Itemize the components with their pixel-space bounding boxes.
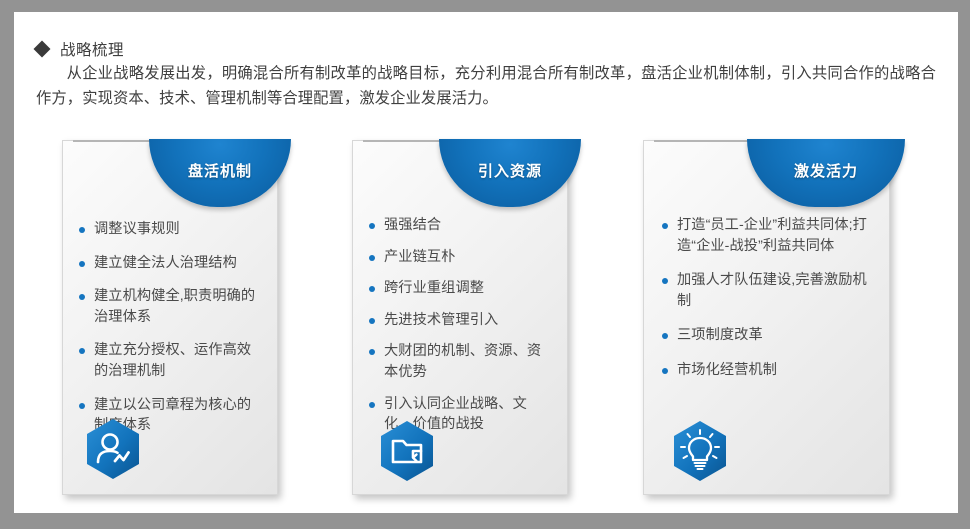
- bullet-dot-icon: [369, 318, 375, 324]
- list-item-label: 强强结合: [384, 215, 441, 236]
- list-item-label: 三项制度改革: [677, 325, 763, 346]
- list-item-label: 产业链互朴: [384, 247, 455, 268]
- list-item-label: 建立健全法人治理结构: [94, 253, 237, 274]
- list-item-label: 调整议事规则: [94, 219, 180, 240]
- list-item: 建立机构健全,职责明确的治理体系: [79, 286, 265, 327]
- list-item-label: 大财团的机制、资源、资本优势: [384, 341, 555, 382]
- list-item: 跨行业重组调整: [369, 278, 555, 299]
- list-item: 三项制度改革: [662, 325, 879, 346]
- card-stimulate-vitality[interactable]: 激发活力 打造“员工-企业”利益共同体;打造“企业-战投”利益共同体 加强人才队…: [643, 140, 890, 495]
- list-item: 先进技术管理引入: [369, 310, 555, 331]
- bullet-dot-icon: [79, 261, 85, 267]
- bullet-dot-icon: [79, 403, 85, 409]
- bullet-list: 调整议事规则 建立健全法人治理结构 建立机构健全,职责明确的治理体系 建立充分授…: [79, 219, 265, 449]
- card-group: 盘活机制 调整议事规则 建立健全法人治理结构 建立机构健全,职责明确的治理体系: [14, 12, 958, 513]
- list-item: 建立健全法人治理结构: [79, 253, 265, 274]
- list-item: 产业链互朴: [369, 247, 555, 268]
- list-item-label: 建立机构健全,职责明确的治理体系: [94, 286, 265, 327]
- bullet-dot-icon: [79, 294, 85, 300]
- card-introduce-resources[interactable]: 引入资源 强强结合 产业链互朴 跨行业重组调整 先进技术管理引入: [352, 140, 568, 495]
- card-title: 盘活机制: [188, 160, 252, 181]
- list-item-label: 加强人才队伍建设,完善激励机制: [677, 270, 879, 311]
- lightbulb-icon: [672, 420, 728, 482]
- bullet-dot-icon: [662, 278, 668, 284]
- card-revitalize-mechanism[interactable]: 盘活机制 调整议事规则 建立健全法人治理结构 建立机构健全,职责明确的治理体系: [62, 140, 278, 495]
- bullet-dot-icon: [369, 255, 375, 261]
- card-title: 激发活力: [794, 160, 858, 181]
- list-item: 打造“员工-企业”利益共同体;打造“企业-战投”利益共同体: [662, 215, 879, 256]
- list-item: 强强结合: [369, 215, 555, 236]
- list-item: 调整议事规则: [79, 219, 265, 240]
- bullet-dot-icon: [79, 348, 85, 354]
- card-title-banner: 引入资源: [439, 139, 581, 207]
- list-item: 大财团的机制、资源、资本优势: [369, 341, 555, 382]
- list-item-label: 市场化经营机制: [677, 360, 777, 381]
- bullet-dot-icon: [369, 223, 375, 229]
- bullet-dot-icon: [662, 368, 668, 374]
- card-title-banner: 激发活力: [747, 139, 905, 207]
- list-item-label: 建立充分授权、运作高效的治理机制: [94, 340, 265, 381]
- bullet-dot-icon: [369, 402, 375, 408]
- person-pulse-icon: [85, 418, 141, 480]
- card-title-banner: 盘活机制: [149, 139, 291, 207]
- bullet-list: 打造“员工-企业”利益共同体;打造“企业-战投”利益共同体 加强人才队伍建设,完…: [662, 215, 879, 395]
- list-item: 建立充分授权、运作高效的治理机制: [79, 340, 265, 381]
- bullet-dot-icon: [369, 349, 375, 355]
- bullet-dot-icon: [79, 227, 85, 233]
- bullet-dot-icon: [662, 223, 668, 229]
- card-title: 引入资源: [478, 160, 542, 181]
- list-item: 市场化经营机制: [662, 360, 879, 381]
- bullet-list: 强强结合 产业链互朴 跨行业重组调整 先进技术管理引入 大财团的机制、资源、资本…: [369, 215, 555, 446]
- list-item-label: 跨行业重组调整: [384, 278, 484, 299]
- list-item-label: 先进技术管理引入: [384, 310, 498, 331]
- bullet-dot-icon: [369, 286, 375, 292]
- list-item: 加强人才队伍建设,完善激励机制: [662, 270, 879, 311]
- bullet-dot-icon: [662, 333, 668, 339]
- folder-import-icon: [379, 420, 435, 482]
- slide-canvas: 战略梳理 从企业战略发展出发，明确混合所有制改革的战略目标，充分利用混合所有制改…: [14, 12, 958, 513]
- list-item-label: 打造“员工-企业”利益共同体;打造“企业-战投”利益共同体: [677, 215, 879, 256]
